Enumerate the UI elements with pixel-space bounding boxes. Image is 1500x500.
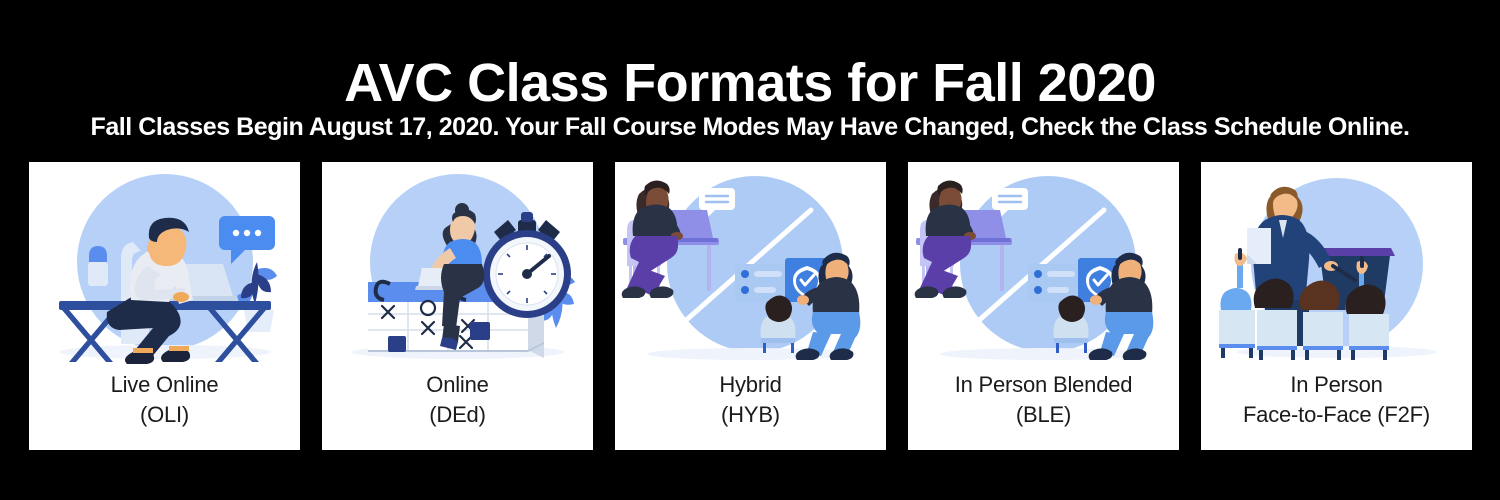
online-ded-illustration	[322, 170, 593, 370]
class-format-label-line1: Live Online	[111, 372, 219, 397]
class-format-card-list: Live Online (OLI)	[29, 162, 1479, 450]
class-format-label-line2: Face-to-Face (F2F)	[1201, 400, 1472, 430]
class-format-label-line1: Online	[426, 372, 488, 397]
class-format-label-line2: (BLE)	[908, 400, 1179, 430]
class-format-card-in-person-blended[interactable]: In Person Blended (BLE)	[908, 162, 1179, 450]
class-format-label: In Person Blended (BLE)	[908, 370, 1179, 430]
class-format-label-line1: In Person Blended	[955, 372, 1133, 397]
live-online-illustration	[29, 170, 300, 370]
avc-class-formats-banner: AVC Class Formats for Fall 2020 Fall Cla…	[0, 0, 1500, 500]
class-format-label: Online (DEd)	[322, 370, 593, 430]
class-format-label-line2: (HYB)	[615, 400, 886, 430]
hybrid-illustration	[615, 170, 886, 370]
class-format-card-hybrid[interactable]: Hybrid (HYB)	[615, 162, 886, 450]
page-subtitle: Fall Classes Begin August 17, 2020. Your…	[0, 115, 1500, 140]
class-format-card-face-to-face[interactable]: In Person Face-to-Face (F2F)	[1201, 162, 1472, 450]
class-format-card-live-online[interactable]: Live Online (OLI)	[29, 162, 300, 450]
class-format-label-line1: In Person	[1290, 372, 1382, 397]
class-format-label-line2: (OLI)	[29, 400, 300, 430]
class-format-card-online[interactable]: Online (DEd)	[322, 162, 593, 450]
class-format-label: Live Online (OLI)	[29, 370, 300, 430]
face-to-face-illustration	[1201, 170, 1472, 370]
class-format-label-line1: Hybrid	[719, 372, 781, 397]
class-format-label: Hybrid (HYB)	[615, 370, 886, 430]
class-format-label-line2: (DEd)	[322, 400, 593, 430]
class-format-label: In Person Face-to-Face (F2F)	[1201, 370, 1472, 430]
in-person-blended-illustration	[908, 170, 1179, 370]
page-title: AVC Class Formats for Fall 2020	[0, 56, 1500, 110]
